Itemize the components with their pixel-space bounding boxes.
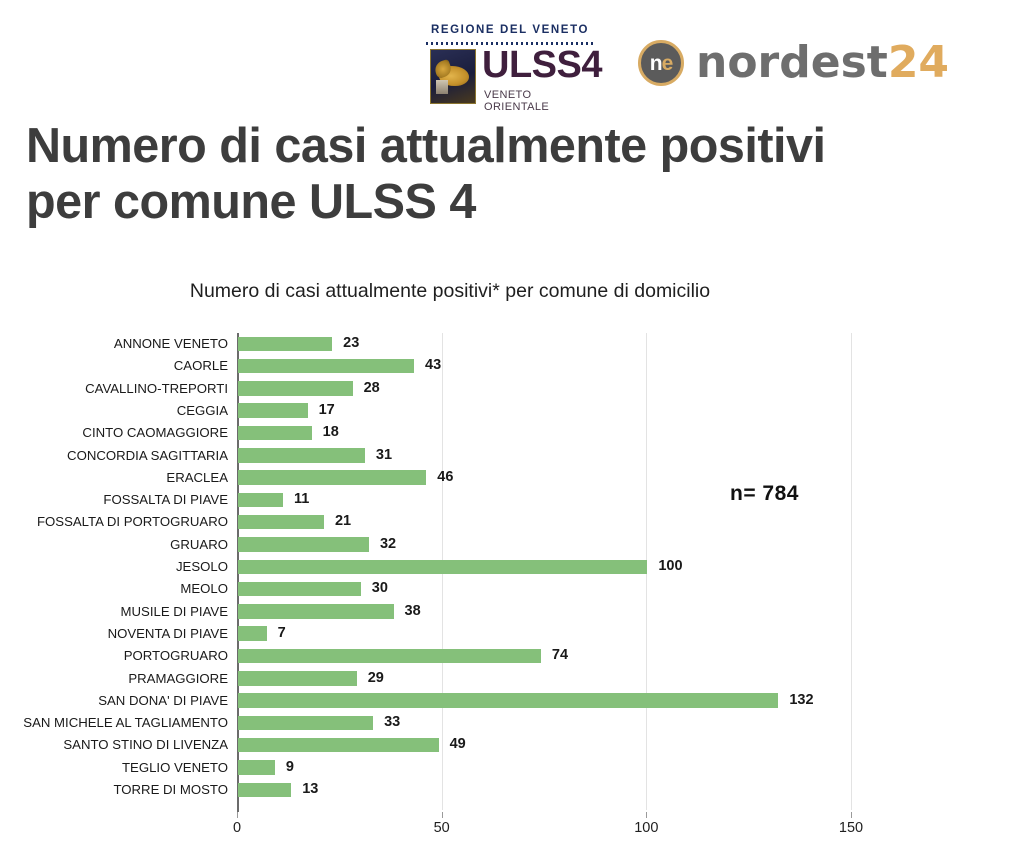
category-label: MUSILE DI PIAVE: [0, 604, 228, 619]
bar-value-label: 33: [384, 715, 400, 730]
chart-row: ANNONE VENETO23: [0, 333, 1024, 355]
chart-plot-area: n= 784 050100150ANNONE VENETO23CAORLE43C…: [0, 324, 1024, 824]
ne-monogram-n: n: [650, 52, 662, 75]
bar-value-label: 18: [323, 425, 339, 440]
chart-row: CONCORDIA SAGITTARIA31: [0, 445, 1024, 467]
nordest-number-text: 24: [888, 37, 949, 88]
ulss4-subtitle: VENETO ORIENTALE: [484, 89, 600, 113]
bar: [238, 515, 324, 530]
category-label: FOSSALTA DI PORTOGRUARO: [0, 514, 228, 529]
bar-value-label: 30: [372, 581, 388, 596]
category-label: CAVALLINO-TREPORTI: [0, 381, 228, 396]
ne-monogram-icon: ne: [638, 40, 684, 86]
regione-del-veneto-label: REGIONE DEL VENETO: [424, 24, 596, 36]
page-title-line-2: per comune ULSS 4: [26, 174, 996, 230]
category-label: PORTOGRUARO: [0, 648, 228, 663]
ne-monogram-e: e: [662, 52, 673, 75]
chart-row: CAVALLINO-TREPORTI28: [0, 378, 1024, 400]
venetian-lion-crest-icon: [430, 49, 476, 104]
bar: [238, 693, 778, 708]
category-label: CAORLE: [0, 358, 228, 373]
bar-chart: Numero di casi attualmente positivi* per…: [0, 258, 1024, 843]
bar: [238, 493, 283, 508]
bar: [238, 403, 308, 418]
category-label: TEGLIO VENETO: [0, 760, 228, 775]
chart-title: Numero di casi attualmente positivi* per…: [0, 280, 900, 303]
chart-row: PORTOGRUARO74: [0, 645, 1024, 667]
chart-row: MEOLO30: [0, 578, 1024, 600]
ne-monogram-text: ne: [641, 43, 681, 83]
category-label: FOSSALTA DI PIAVE: [0, 492, 228, 507]
category-label: CONCORDIA SAGITTARIA: [0, 448, 228, 463]
x-tick-label: 150: [821, 820, 881, 836]
x-tick-mark: [851, 812, 852, 818]
chart-row: FOSSALTA DI PORTOGRUARO21: [0, 511, 1024, 533]
category-label: ANNONE VENETO: [0, 336, 228, 351]
chart-row: SANTO STINO DI LIVENZA49: [0, 734, 1024, 756]
bar: [238, 448, 365, 463]
category-label: SAN MICHELE AL TAGLIAMENTO: [0, 715, 228, 730]
category-label: JESOLO: [0, 559, 228, 574]
chart-row: ERACLEA46: [0, 467, 1024, 489]
bar-value-label: 23: [343, 336, 359, 351]
bar-value-label: 49: [450, 737, 466, 752]
chart-row: TEGLIO VENETO9: [0, 757, 1024, 779]
bar: [238, 760, 275, 775]
lion-book-shape: [436, 80, 448, 94]
category-label: GRUARO: [0, 537, 228, 552]
nordest-word-text: nordest: [696, 37, 888, 88]
page-title: Numero di casi attualmente positivi per …: [26, 118, 996, 230]
x-tick-label: 50: [412, 820, 472, 836]
bar-value-label: 132: [789, 693, 813, 708]
bar: [238, 582, 361, 597]
bar: [238, 604, 394, 619]
category-label: CEGGIA: [0, 403, 228, 418]
chart-row: JESOLO100: [0, 556, 1024, 578]
page-title-line-1: Numero di casi attualmente positivi: [26, 119, 825, 173]
bar-value-label: 11: [294, 492, 309, 507]
x-tick-mark: [237, 812, 238, 818]
bar-value-label: 29: [368, 671, 384, 686]
category-label: TORRE DI MOSTO: [0, 782, 228, 797]
category-label: ERACLEA: [0, 470, 228, 485]
ulss4-wordmark: ULSS4: [482, 46, 602, 84]
chart-row: NOVENTA DI PIAVE7: [0, 623, 1024, 645]
bar: [238, 783, 291, 798]
x-tick-mark: [646, 812, 647, 818]
bar-value-label: 9: [286, 760, 294, 775]
bar: [238, 649, 541, 664]
category-label: CINTO CAOMAGGIORE: [0, 425, 228, 440]
bar: [238, 671, 357, 686]
chart-row: MUSILE DI PIAVE38: [0, 601, 1024, 623]
bar-value-label: 31: [376, 448, 392, 463]
bar-value-label: 46: [437, 470, 453, 485]
chart-row: PRAMAGGIORE29: [0, 668, 1024, 690]
bar-value-label: 7: [278, 626, 286, 641]
nordest24-wordmark: nordest24: [696, 34, 949, 92]
bar-value-label: 13: [302, 782, 318, 797]
bar-value-label: 32: [380, 537, 396, 552]
bar-value-label: 17: [319, 403, 335, 418]
bar-value-label: 43: [425, 358, 441, 373]
ulss4-logo: REGIONE DEL VENETO ULSS4 VENETO ORIENTAL…: [416, 18, 600, 106]
x-tick-label: 100: [616, 820, 676, 836]
category-label: PRAMAGGIORE: [0, 671, 228, 686]
bar: [238, 470, 426, 485]
bar-value-label: 100: [658, 559, 682, 574]
category-label: NOVENTA DI PIAVE: [0, 626, 228, 641]
bar-value-label: 21: [335, 514, 351, 529]
bar: [238, 560, 647, 575]
chart-row: GRUARO32: [0, 534, 1024, 556]
bar-value-label: 28: [364, 381, 380, 396]
category-label: SANTO STINO DI LIVENZA: [0, 737, 228, 752]
chart-row: TORRE DI MOSTO13: [0, 779, 1024, 801]
bar: [238, 359, 414, 374]
bar-value-label: 74: [552, 648, 568, 663]
bar-value-label: 38: [405, 604, 421, 619]
bar: [238, 537, 369, 552]
chart-row: CINTO CAOMAGGIORE18: [0, 422, 1024, 444]
category-label: MEOLO: [0, 581, 228, 596]
bar: [238, 716, 373, 731]
chart-row: CEGGIA17: [0, 400, 1024, 422]
chart-row: CAORLE43: [0, 355, 1024, 377]
page-header: REGIONE DEL VENETO ULSS4 VENETO ORIENTAL…: [0, 0, 1024, 112]
bar: [238, 337, 332, 352]
x-tick-mark: [442, 812, 443, 818]
chart-row: FOSSALTA DI PIAVE11: [0, 489, 1024, 511]
bar: [238, 626, 267, 641]
x-tick-label: 0: [207, 820, 267, 836]
chart-row: SAN MICHELE AL TAGLIAMENTO33: [0, 712, 1024, 734]
chart-row: SAN DONA' DI PIAVE132: [0, 690, 1024, 712]
bar: [238, 738, 439, 753]
bar: [238, 381, 353, 396]
category-label: SAN DONA' DI PIAVE: [0, 693, 228, 708]
bar: [238, 426, 312, 441]
